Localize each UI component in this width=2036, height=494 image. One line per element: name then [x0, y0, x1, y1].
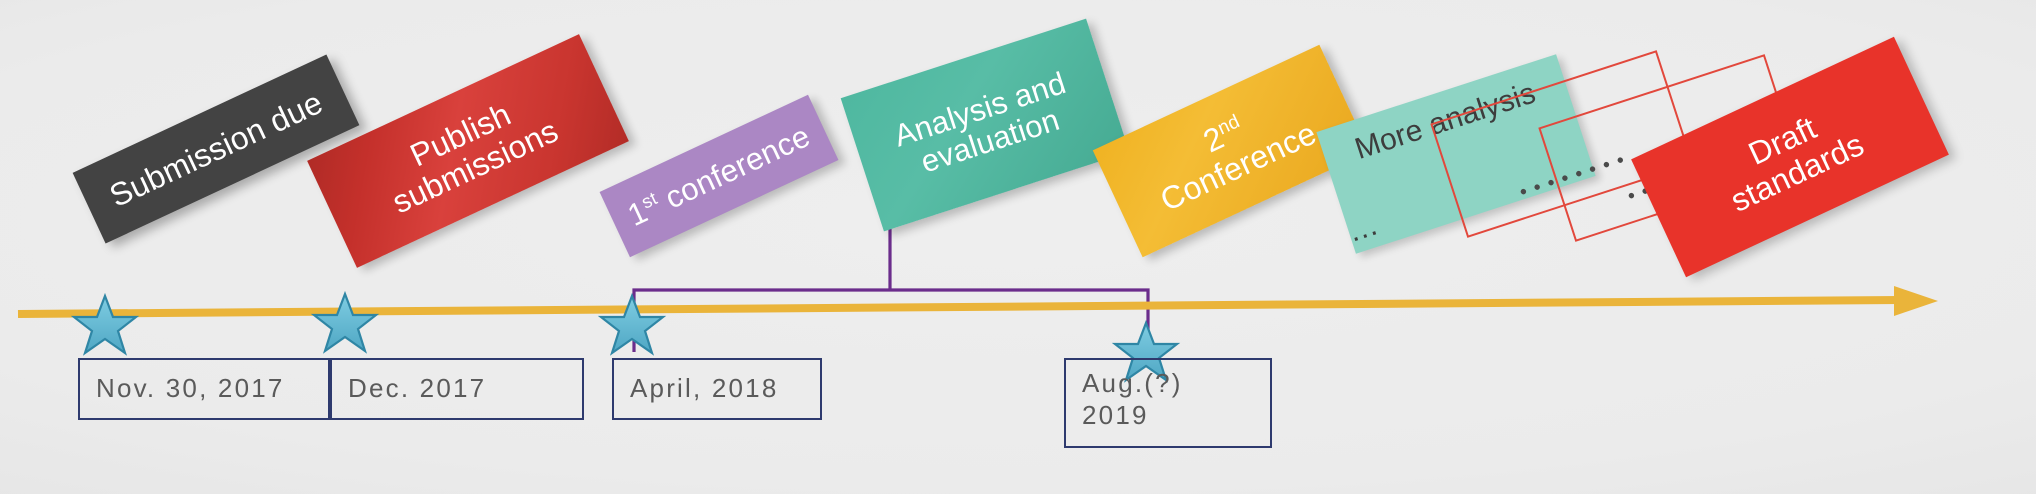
- milestone-star-2: [314, 294, 376, 351]
- datebox-april-2018-label: April, 2018: [630, 373, 779, 405]
- bracket-connector: [634, 215, 1148, 352]
- datebox-dec-2017[interactable]: Dec. 2017: [330, 358, 584, 420]
- milestone-star-1: [74, 296, 136, 353]
- banner-draft-standards-label: Draft standards: [1711, 96, 1869, 219]
- datebox-april-2018[interactable]: April, 2018: [612, 358, 822, 420]
- datebox-aug-2019[interactable]: Aug.(?) 2019: [1064, 358, 1272, 448]
- milestone-star-3: [601, 296, 663, 353]
- datebox-nov-30-2017[interactable]: Nov. 30, 2017: [78, 358, 330, 420]
- datebox-nov-30-2017-label: Nov. 30, 2017: [96, 373, 285, 405]
- timeline-diagram: Submission due Publish submissions 1st c…: [0, 0, 2036, 494]
- banner-analysis-evaluation-label: Analysis and evaluation: [890, 66, 1080, 185]
- datebox-dec-2017-label: Dec. 2017: [348, 373, 486, 405]
- datebox-aug-2019-label: Aug.(?) 2019: [1082, 368, 1183, 431]
